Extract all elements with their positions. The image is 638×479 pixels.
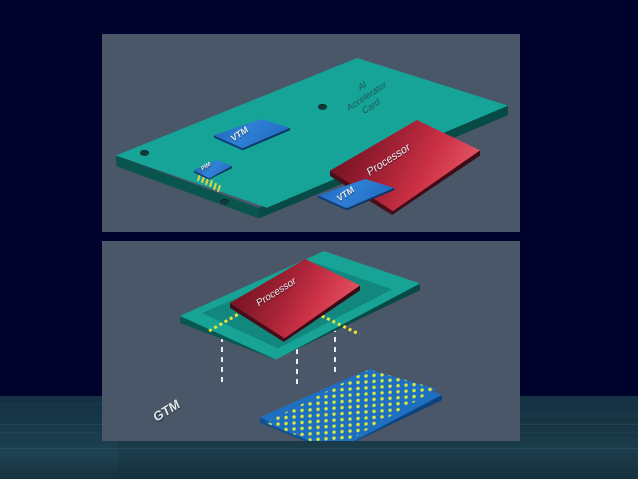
mounting-hole bbox=[140, 150, 149, 156]
top-scene: Processor VTM VTM PIM AI bbox=[102, 34, 520, 232]
mounting-hole bbox=[318, 104, 327, 110]
figure-canvas: Processor VTM VTM PIM AI bbox=[0, 0, 638, 479]
background-circuit-line bbox=[0, 448, 638, 449]
alignment-guide bbox=[334, 327, 336, 375]
alignment-guide bbox=[221, 337, 223, 385]
mounting-hole bbox=[220, 199, 229, 205]
gtm-label: GTM bbox=[151, 396, 182, 425]
figure-panel-top: Processor VTM VTM PIM AI bbox=[102, 34, 520, 232]
figure-panel-bottom: Processor GTM bbox=[102, 241, 520, 441]
bottom-scene: Processor GTM bbox=[102, 241, 520, 441]
